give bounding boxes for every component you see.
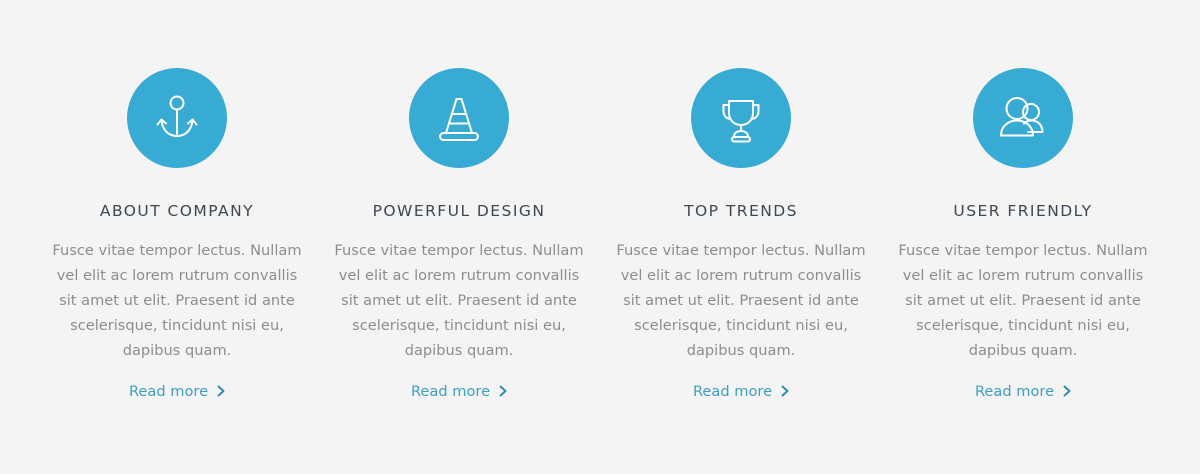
chevron-right-icon [217, 385, 225, 397]
read-more-label: Read more [129, 383, 208, 400]
read-more-link[interactable]: Read more [411, 383, 507, 400]
card-description: Fusce vitae tempor lectus. Nullam vel el… [896, 238, 1150, 363]
features-section: ABOUT COMPANY Fusce vitae tempor lectus.… [0, 0, 1200, 474]
card-title: USER FRIENDLY [953, 202, 1092, 221]
feature-card-about-company: ABOUT COMPANY Fusce vitae tempor lectus.… [36, 68, 318, 400]
card-title: ABOUT COMPANY [100, 202, 254, 221]
card-description: Fusce vitae tempor lectus. Nullam vel el… [332, 238, 586, 363]
icon-circle-about-company [127, 68, 227, 168]
icon-circle-powerful-design [409, 68, 509, 168]
chevron-right-icon [1063, 385, 1071, 397]
anchor-icon [149, 90, 205, 146]
feature-card-powerful-design: POWERFUL DESIGN Fusce vitae tempor lectu… [318, 68, 600, 400]
read-more-link[interactable]: Read more [975, 383, 1071, 400]
feature-card-top-trends: TOP TRENDS Fusce vitae tempor lectus. Nu… [600, 68, 882, 400]
read-more-label: Read more [411, 383, 490, 400]
card-description: Fusce vitae tempor lectus. Nullam vel el… [50, 238, 304, 363]
read-more-label: Read more [975, 383, 1054, 400]
chevron-right-icon [781, 385, 789, 397]
icon-circle-user-friendly [973, 68, 1073, 168]
card-title: POWERFUL DESIGN [373, 202, 546, 221]
chevron-right-icon [499, 385, 507, 397]
read-more-link[interactable]: Read more [693, 383, 789, 400]
read-more-label: Read more [693, 383, 772, 400]
trophy-icon [715, 92, 767, 144]
feature-card-user-friendly: USER FRIENDLY Fusce vitae tempor lectus.… [882, 68, 1164, 400]
card-description: Fusce vitae tempor lectus. Nullam vel el… [614, 238, 868, 363]
users-icon [995, 90, 1051, 146]
icon-circle-top-trends [691, 68, 791, 168]
traffic-cone-icon [431, 90, 487, 146]
card-title: TOP TRENDS [684, 202, 798, 221]
read-more-link[interactable]: Read more [129, 383, 225, 400]
